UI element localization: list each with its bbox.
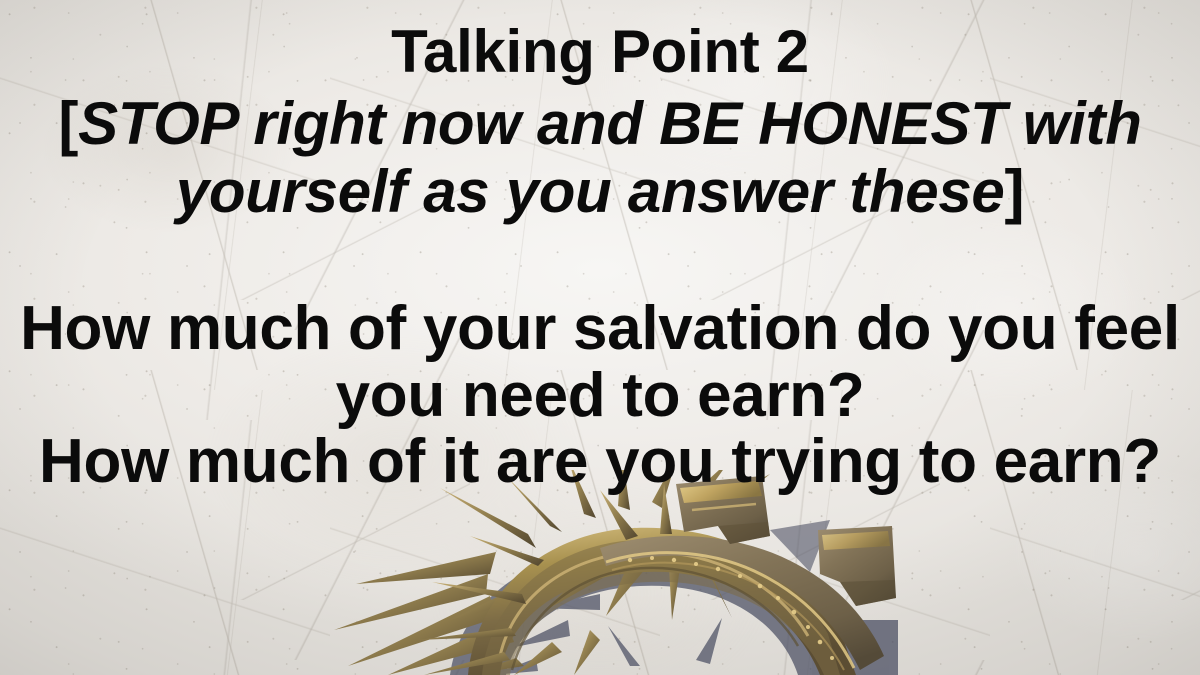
subtitle-text-1: STOP right now and BE HONEST with bbox=[78, 90, 1141, 157]
subtitle-text-2: yourself as you answer these bbox=[176, 158, 1005, 225]
question-one-line-one: How much of your salvation do you feel bbox=[0, 298, 1200, 360]
page-title: Talking Point 2 bbox=[0, 22, 1200, 82]
close-bracket: ] bbox=[1004, 158, 1024, 225]
open-bracket: [ bbox=[58, 90, 78, 157]
slide-canvas: Talking Point 2 [STOP right now and BE H… bbox=[0, 0, 1200, 675]
slide-text: Talking Point 2 [STOP right now and BE H… bbox=[0, 0, 1200, 675]
question-two: How much of it are you trying to earn? bbox=[0, 431, 1200, 493]
question-one-line-two: you need to earn? bbox=[0, 365, 1200, 427]
subtitle-line-2: yourself as you answer these] bbox=[0, 162, 1200, 222]
subtitle-line-1: [STOP right now and BE HONEST with bbox=[0, 94, 1200, 154]
